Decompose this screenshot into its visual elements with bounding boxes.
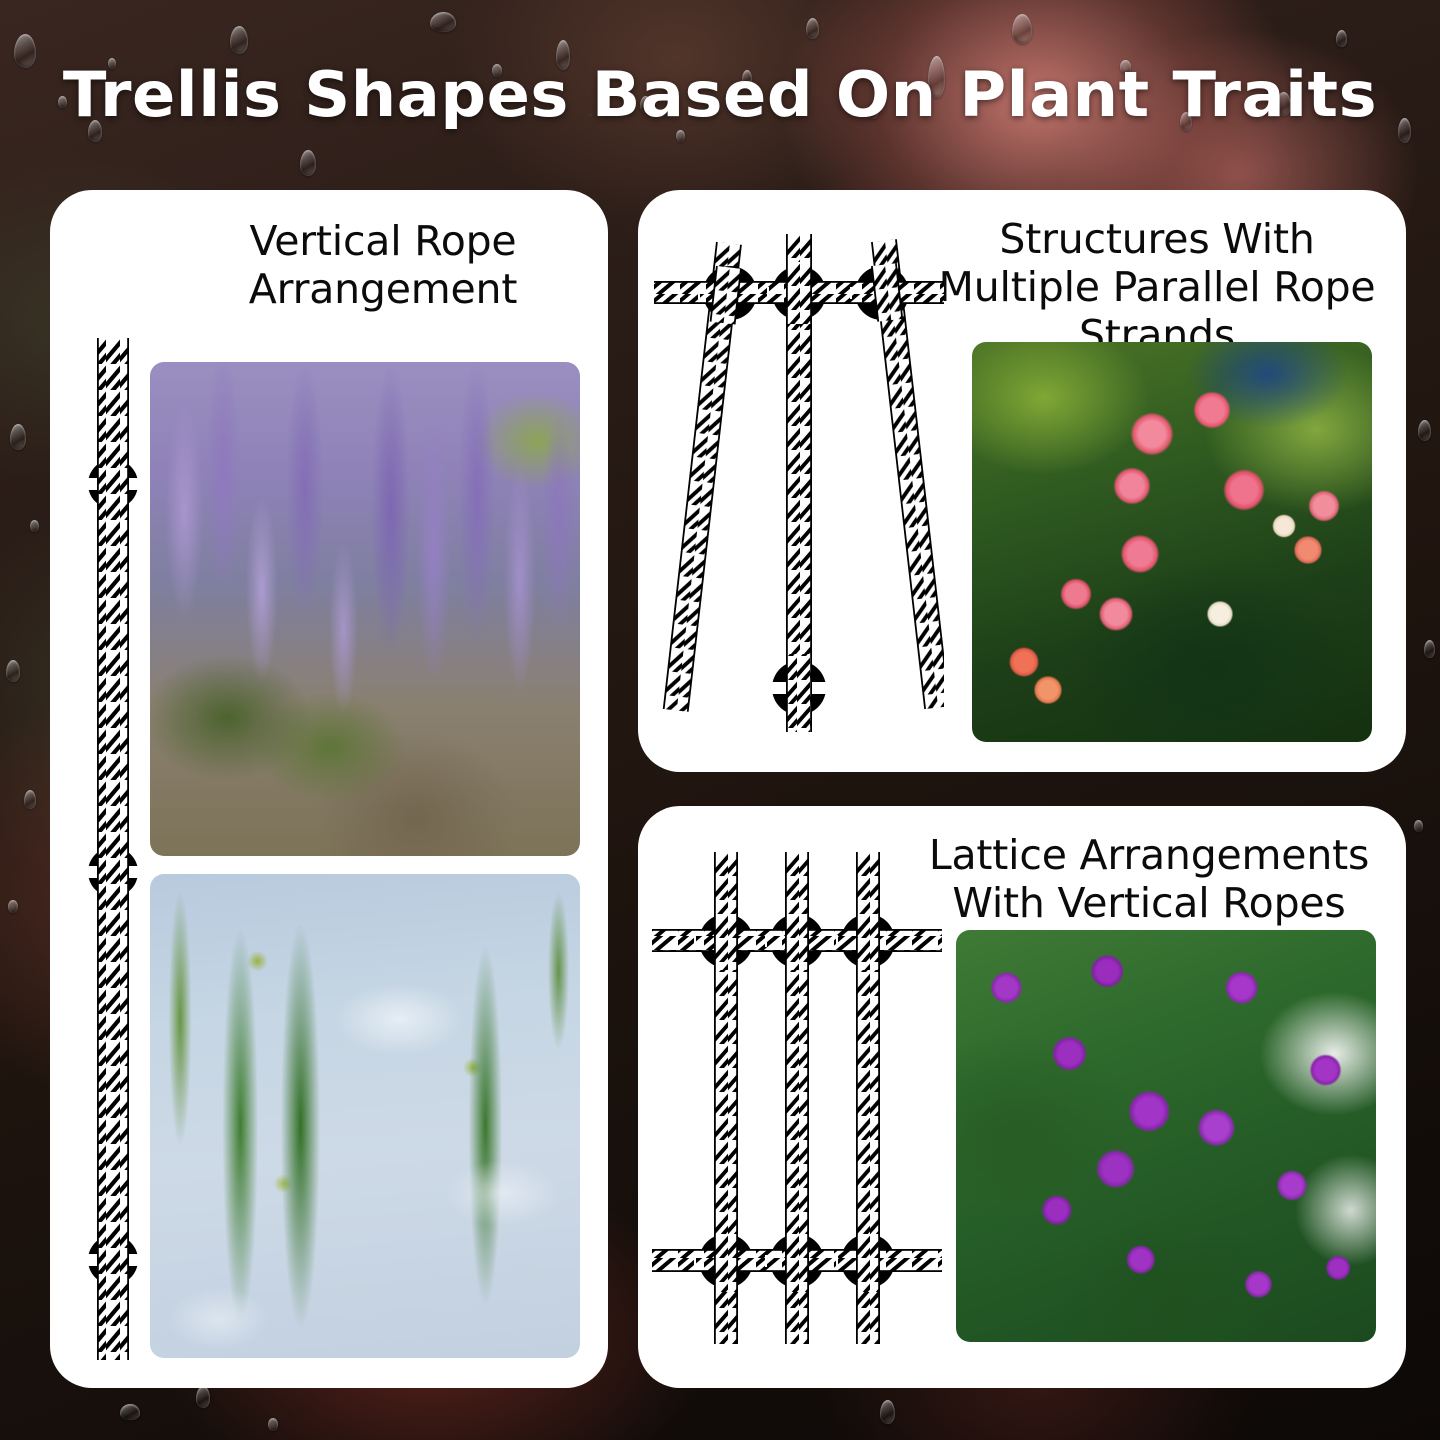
climbing-roses-photo (972, 342, 1372, 742)
single-vertical-rope-diagram (78, 338, 148, 1360)
card-heading-vertical: Vertical Rope Arrangement (178, 218, 588, 314)
clematis-photo (956, 930, 1376, 1342)
card-lattice-arrangement: Lattice Arrangements With Vertical Ropes (638, 806, 1406, 1388)
card-vertical-rope-arrangement: Vertical Rope Arrangement (50, 190, 608, 1388)
card-parallel-rope-strands: Structures With Multiple Parallel Rope S… (638, 190, 1406, 772)
converging-fan-rope-diagram (654, 224, 944, 744)
wisteria-photo (150, 362, 580, 856)
card-heading-parallel: Structures With Multiple Parallel Rope S… (918, 216, 1396, 360)
card-heading-lattice: Lattice Arrangements With Vertical Ropes (906, 832, 1392, 928)
poster-canvas: Trellis Shapes Based On Plant Traits Ver… (0, 0, 1440, 1440)
rope-ring (82, 459, 144, 509)
climbing-vine-photo (150, 874, 580, 1358)
rope-ring (82, 847, 144, 897)
convergence-knot (767, 654, 831, 732)
lattice-rope-grid-diagram (652, 838, 942, 1358)
rope-ring (82, 1235, 144, 1285)
page-title: Trellis Shapes Based On Plant Traits (0, 58, 1440, 131)
